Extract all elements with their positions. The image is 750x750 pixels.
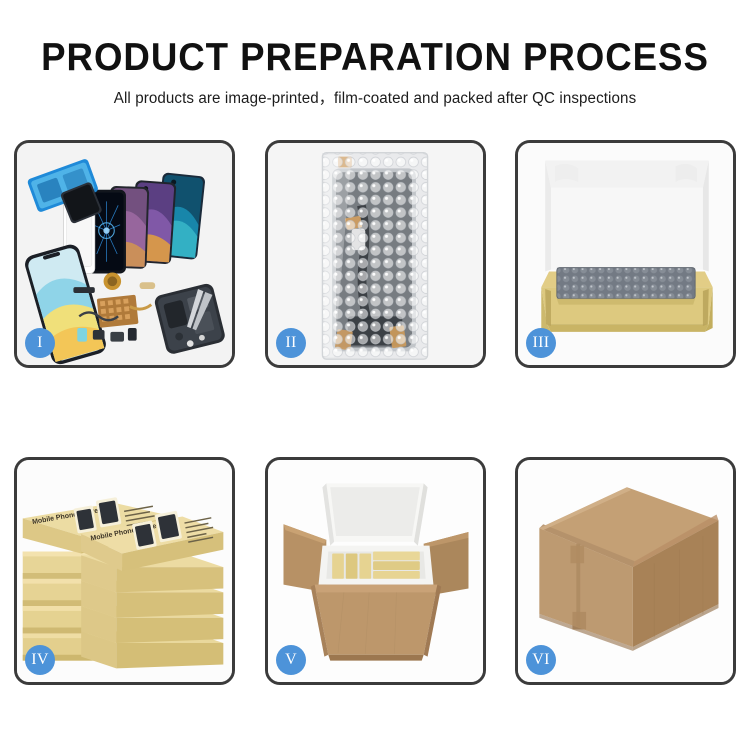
process-step-panel-5: V: [265, 457, 486, 685]
step-badge-1: I: [25, 328, 55, 358]
step-badge-5: V: [276, 645, 306, 675]
step-badge-3: III: [526, 328, 556, 358]
process-step-panel-3: III: [515, 140, 736, 368]
header: PRODUCT PREPARATION PROCESS All products…: [0, 0, 750, 106]
process-step-panel-2: II: [265, 140, 486, 368]
step-badge-4: IV: [25, 645, 55, 675]
step-badge-2: II: [276, 328, 306, 358]
step-badge-6: VI: [526, 645, 556, 675]
process-step-panel-4: Mobile Phone Spare Parts: [14, 457, 235, 685]
page-title: PRODUCT PREPARATION PROCESS: [23, 0, 728, 77]
process-step-grid: I: [14, 140, 737, 676]
process-step-panel-6: VI: [515, 457, 736, 685]
process-step-panel-1: I: [14, 140, 235, 368]
page-subtitle: All products are image-printed，film-coat…: [4, 77, 747, 106]
